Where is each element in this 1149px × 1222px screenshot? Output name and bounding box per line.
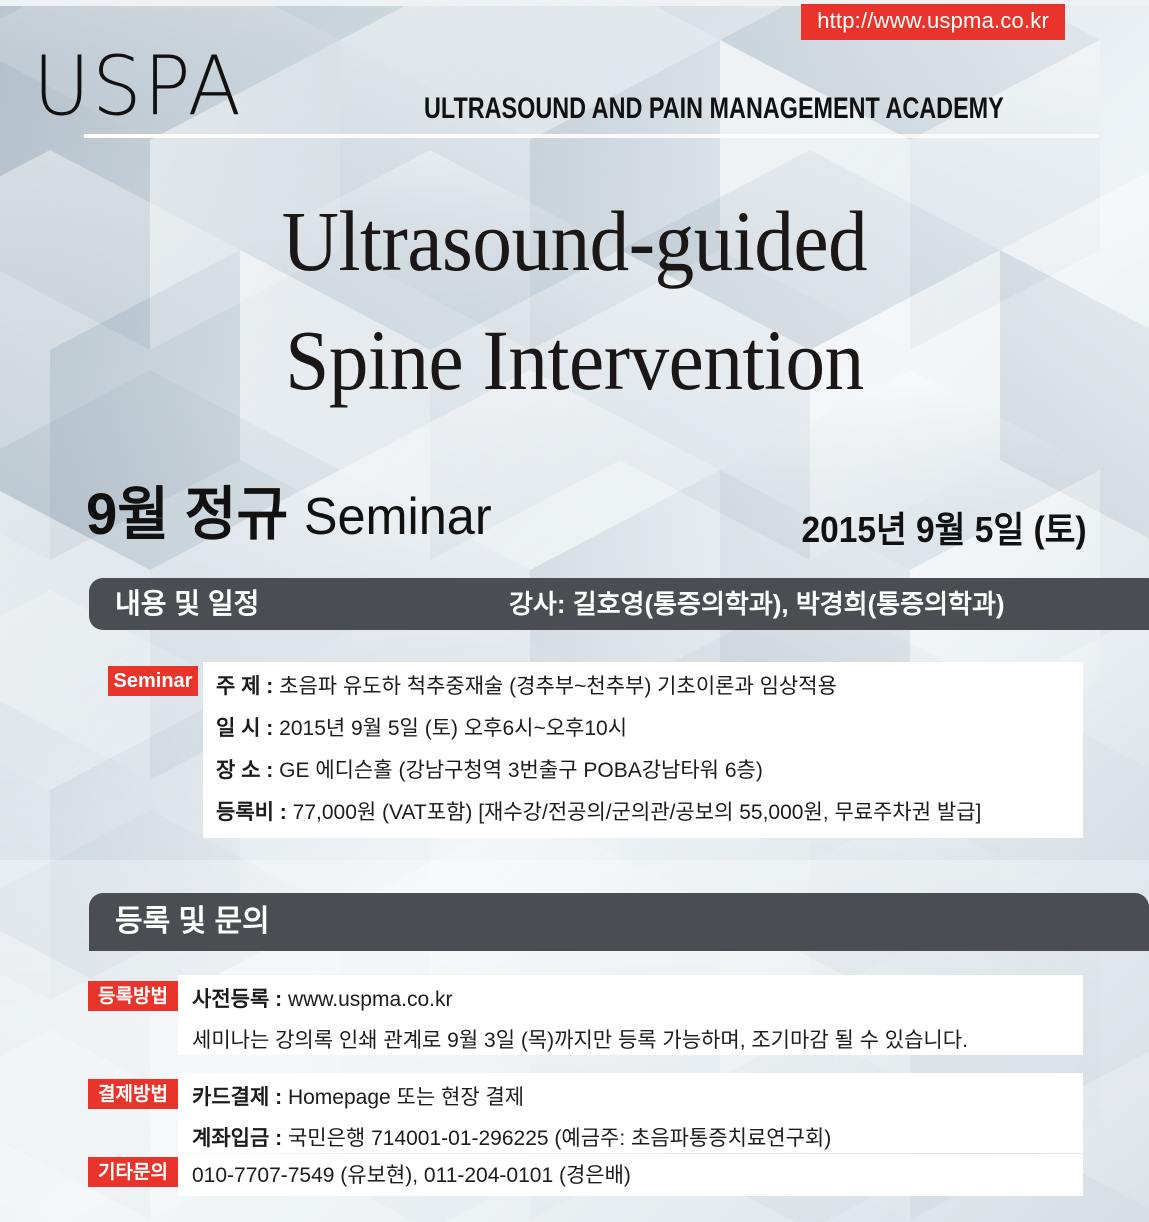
seminar-subtitle: 9월 정규 Seminar — [86, 486, 492, 544]
payment-card-label: 카드결제 : — [192, 1086, 282, 1109]
academy-tagline: ULTRASOUND AND PAIN MANAGEMENT ACADEMY — [424, 94, 1004, 124]
schedule-row-value: 77,000원 (VAT포함) [재수강/전공의/군의관/공보의 55,000원… — [293, 801, 982, 824]
schedule-row-label: 장 소 : — [216, 759, 273, 782]
seminar-date: 2015년 9월 5일 (토) — [802, 512, 1087, 548]
registration-label: 사전등록 : — [192, 988, 282, 1011]
header-rule — [84, 134, 1099, 138]
schedule-rows: 주 제 : 초음파 유도하 척추중재술 (경추부~천추부) 기초이론과 임상적용… — [216, 666, 981, 834]
subtitle-korean: 9월 정규 — [86, 482, 288, 547]
schedule-heading: 내용 및 일정 — [115, 590, 259, 618]
registration-row: 사전등록 : www.uspma.co.kr — [192, 979, 968, 1020]
schedule-row-value: 2015년 9월 5일 (토) 오후6시~오후10시 — [279, 717, 627, 740]
registration-rows: 사전등록 : www.uspma.co.kr 세미나는 강의록 인쇄 관계로 9… — [192, 979, 968, 1061]
registration-tag: 등록방법 — [88, 981, 178, 1011]
title-line-1: Ultrasound-guided — [282, 193, 867, 289]
schedule-row-label: 일 시 : — [216, 717, 273, 740]
schedule-row: 등록비 : 77,000원 (VAT포함) [재수강/전공의/군의관/공보의 5… — [216, 792, 981, 834]
payment-bank-value: 국민은행 714001-01-296225 (예금주: 초음파통증치료연구회) — [288, 1127, 831, 1150]
schedule-row: 일 시 : 2015년 9월 5일 (토) 오후6시~오후10시 — [216, 708, 981, 750]
schedule-row-label: 주 제 : — [216, 675, 273, 698]
seminar-tag: Seminar — [108, 666, 198, 696]
schedule-row: 장 소 : GE 에디슨홀 (강남구청역 3번출구 POBA강남타워 6층) — [216, 750, 981, 792]
payment-row: 계좌입금 : 국민은행 714001-01-296225 (예금주: 초음파통증… — [192, 1118, 831, 1159]
schedule-row-label: 등록비 : — [216, 801, 287, 824]
payment-rows: 카드결제 : Homepage 또는 현장 결제 계좌입금 : 국민은행 714… — [192, 1077, 831, 1159]
website-url-badge[interactable]: http://www.uspma.co.kr — [801, 4, 1065, 40]
registration-note: 세미나는 강의록 인쇄 관계로 9월 3일 (목)까지만 등록 가능하며, 조기… — [192, 1020, 968, 1061]
payment-tag: 결제방법 — [88, 1079, 178, 1109]
title-line-2: Spine Intervention — [46, 301, 1103, 420]
subtitle-english: Seminar — [304, 488, 492, 546]
payment-bank-label: 계좌입금 : — [192, 1127, 282, 1150]
poster-canvas: http://www.uspma.co.kr USPA ULTRASOUND A… — [0, 0, 1149, 1222]
schedule-section-bar: 내용 및 일정 강사: 길호영(통증의학과), 박경희(통증의학과) — [89, 578, 1149, 630]
page-title: Ultrasound-guided Spine Intervention — [46, 182, 1103, 419]
register-bar-background: 등록 및 문의 — [89, 893, 1149, 951]
payment-card-value: Homepage 또는 현장 결제 — [288, 1086, 524, 1109]
payment-row: 카드결제 : Homepage 또는 현장 결제 — [192, 1077, 831, 1118]
register-heading: 등록 및 문의 — [115, 907, 270, 937]
schedule-row-value: 초음파 유도하 척추중재술 (경추부~천추부) 기초이론과 임상적용 — [279, 675, 837, 698]
inquiry-tag: 기타문의 — [88, 1157, 178, 1187]
registration-url[interactable]: www.uspma.co.kr — [288, 988, 453, 1011]
uspa-logo: USPA — [33, 46, 243, 128]
schedule-row: 주 제 : 초음파 유도하 척추중재술 (경추부~천추부) 기초이론과 임상적용 — [216, 666, 981, 708]
lecturer-names: 강사: 길호영(통증의학과), 박경희(통증의학과) — [509, 591, 1005, 617]
schedule-row-value: GE 에디슨홀 (강남구청역 3번출구 POBA강남타워 6층) — [279, 759, 763, 782]
schedule-bar-background: 내용 및 일정 강사: 길호영(통증의학과), 박경희(통증의학과) — [89, 578, 1149, 630]
inquiry-rows: 010-7707-7549 (유보현), 011-204-0101 (경은배) — [192, 1155, 631, 1196]
inquiry-phones: 010-7707-7549 (유보현), 011-204-0101 (경은배) — [192, 1155, 631, 1196]
register-section-bar: 등록 및 문의 — [89, 893, 1149, 951]
